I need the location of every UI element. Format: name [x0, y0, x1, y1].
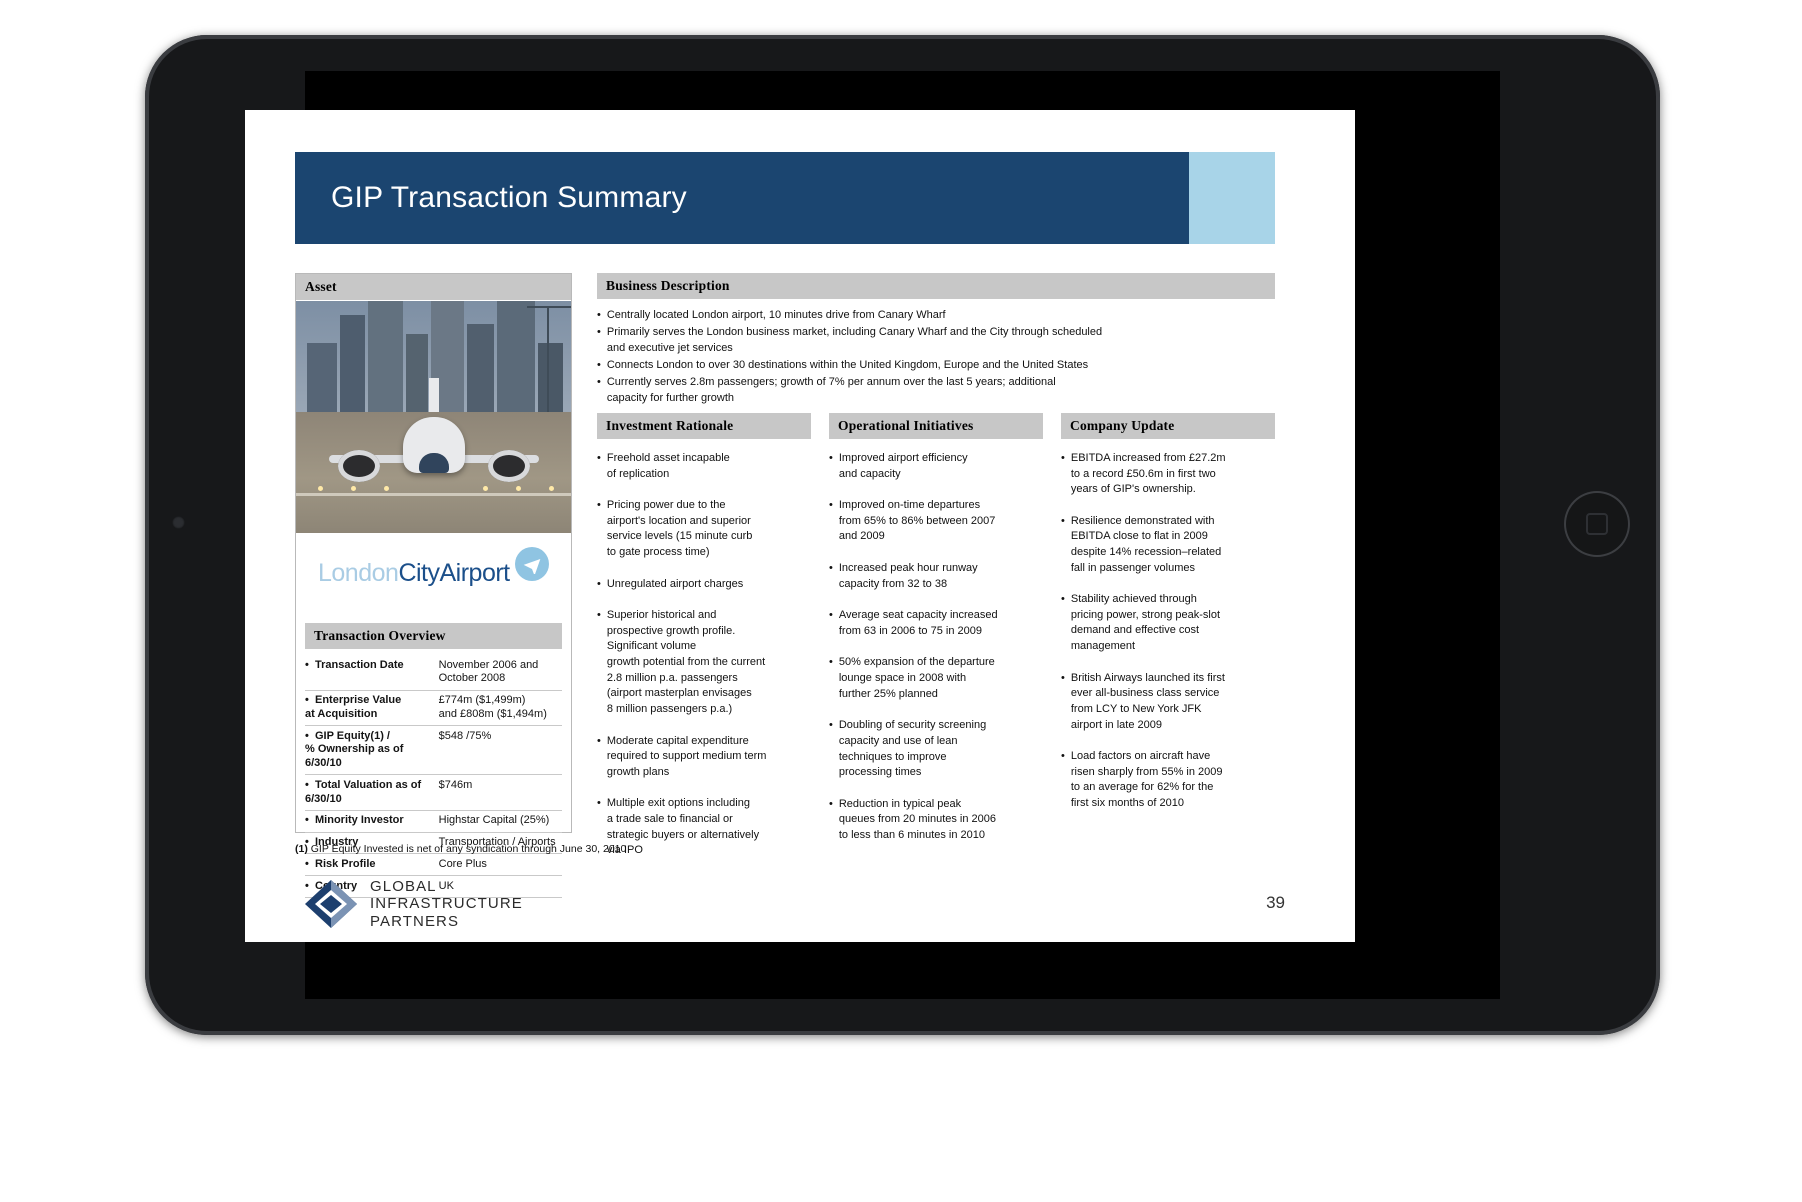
company-update-header: Company Update [1061, 413, 1275, 439]
company-update-column: Company Update •EBITDA increased from £2… [1061, 413, 1275, 875]
table-row: •Minority InvestorHighstar Capital (25%) [305, 810, 562, 832]
table-row: •Total Valuation as of 6/30/10$746m [305, 775, 562, 811]
bullet-icon: • [829, 797, 833, 844]
airplane-icon [515, 547, 549, 581]
photo-building [467, 324, 495, 412]
gip-line-3: PARTNERS [370, 913, 523, 930]
photo-plane-engine [338, 450, 380, 482]
list-item: •Doubling of security screening capacity… [829, 718, 1043, 780]
table-row: •GIP Equity(1) / % Ownership as of 6/30/… [305, 726, 562, 775]
list-item-text: Connects London to over 30 destinations … [607, 358, 1088, 374]
list-item-text: Unregulated airport charges [607, 577, 743, 593]
list-item-text: EBITDA increased from £27.2m to a record… [1071, 451, 1226, 498]
list-item-text: Resilience demonstrated with EBITDA clos… [1071, 514, 1221, 576]
gip-line-1: GLOBAL [370, 878, 523, 895]
lca-wordmark-cityairport: CityAirport [398, 559, 509, 587]
table-row: •Transaction DateNovember 2006 and Octob… [305, 655, 562, 690]
list-item: •Pricing power due to the airport's loca… [597, 498, 811, 560]
row-value: November 2006 and October 2008 [439, 655, 562, 690]
list-item: •British Airways launched its first ever… [1061, 671, 1275, 733]
list-item: •Primarily serves the London business ma… [597, 325, 1275, 357]
row-label: •Total Valuation as of 6/30/10 [305, 775, 439, 811]
list-item-text: Centrally located London airport, 10 min… [607, 308, 946, 324]
operational-initiatives-header: Operational Initiatives [829, 413, 1043, 439]
business-description-list: •Centrally located London airport, 10 mi… [597, 308, 1275, 407]
bullet-icon: • [597, 734, 601, 781]
list-item-text: Increased peak hour runway capacity from… [839, 561, 978, 592]
list-item-text: Load factors on aircraft have risen shar… [1071, 749, 1223, 811]
table-row: •Enterprise Value at Acquisition£774m ($… [305, 690, 562, 726]
list-item-text: Pricing power due to the airport's locat… [607, 498, 753, 560]
bullet-icon: • [305, 659, 315, 673]
row-value: Highstar Capital (25%) [439, 810, 562, 832]
bullet-icon: • [829, 498, 833, 545]
business-description-section: Business Description •Centrally located … [597, 273, 1275, 408]
photo-building [406, 334, 428, 413]
list-item-text: Superior historical and prospective grow… [607, 608, 765, 717]
row-label: •Transaction Date [305, 655, 439, 690]
transaction-overview-header: Transaction Overview [305, 623, 562, 649]
home-button[interactable] [1564, 491, 1630, 557]
photo-building [538, 343, 563, 413]
row-value: Core Plus [439, 854, 562, 876]
photo-plane-tail [429, 378, 439, 412]
photo-building [497, 301, 536, 412]
list-item-text: Improved on-time departures from 65% to … [839, 498, 996, 545]
london-city-airport-logo: LondonCityAirport [296, 533, 571, 623]
list-item-text: Freehold asset incapable of replication [607, 451, 730, 482]
operational-initiatives-column: Operational Initiatives •Improved airpor… [829, 413, 1043, 875]
photo-plane-engine [488, 450, 530, 482]
list-item-text: Reduction in typical peak queues from 20… [839, 797, 996, 844]
asset-panel: Asset [295, 273, 572, 833]
list-item-text: British Airways launched its first ever … [1071, 671, 1225, 733]
bullet-icon: • [597, 325, 601, 357]
footnote: (1) GIP Equity Invested is net of any sy… [295, 843, 626, 855]
bullet-icon: • [1061, 749, 1065, 811]
investment-rationale-column: Investment Rationale •Freehold asset inc… [597, 413, 811, 875]
investment-rationale-header: Investment Rationale [597, 413, 811, 439]
bullet-icon: • [829, 561, 833, 592]
gip-wordmark: GLOBAL INFRASTRUCTURE PARTNERS [370, 878, 523, 929]
photo-building [368, 301, 404, 412]
page-number: 39 [1266, 893, 1285, 913]
list-item: •Moderate capital expenditure required t… [597, 734, 811, 781]
transaction-overview-section: Transaction Overview •Transaction DateNo… [296, 623, 571, 908]
list-item-text: Stability achieved through pricing power… [1071, 592, 1220, 654]
list-item: •Superior historical and prospective gro… [597, 608, 811, 717]
bullet-icon: • [597, 451, 601, 482]
bullet-icon: • [597, 577, 601, 593]
page-title: GIP Transaction Summary [331, 181, 687, 215]
row-label: •Minority Investor [305, 810, 439, 832]
photo-building [307, 343, 337, 413]
list-item: •EBITDA increased from £27.2m to a recor… [1061, 451, 1275, 498]
row-value: $548 /75% [439, 726, 562, 775]
list-item: •Centrally located London airport, 10 mi… [597, 308, 1275, 324]
detail-columns: Investment Rationale •Freehold asset inc… [597, 413, 1275, 875]
photo-runway-marking [296, 493, 571, 496]
footnote-marker: (1) [295, 843, 308, 855]
list-item: •Multiple exit options including a trade… [597, 796, 811, 858]
presentation-slide: GIP Transaction Summary Asset [245, 110, 1355, 942]
list-item-text: Improved airport efficiency and capacity [839, 451, 968, 482]
table-row: •Risk ProfileCore Plus [305, 854, 562, 876]
investment-rationale-list: •Freehold asset incapable of replication… [597, 451, 811, 859]
list-item: •Improved airport efficiency and capacit… [829, 451, 1043, 482]
bullet-icon: • [597, 498, 601, 560]
asset-section-header: Asset [296, 274, 571, 301]
slide-title-banner: GIP Transaction Summary [295, 152, 1275, 244]
business-description-header: Business Description [597, 273, 1275, 299]
row-label: •Enterprise Value at Acquisition [305, 690, 439, 726]
list-item-text: Currently serves 2.8m passengers; growth… [607, 375, 1056, 407]
gip-diamond-icon [303, 878, 359, 930]
footnote-text: GIP Equity Invested is net of any syndic… [308, 843, 627, 855]
bullet-icon: • [1061, 671, 1065, 733]
list-item-text: Average seat capacity increased from 63 … [839, 608, 998, 639]
row-value: $746m [439, 775, 562, 811]
bullet-icon: • [597, 375, 601, 407]
title-accent-block [1189, 152, 1275, 244]
bullet-icon: • [305, 730, 315, 744]
front-camera-icon [172, 516, 185, 529]
photo-building [340, 315, 365, 412]
bullet-icon: • [597, 358, 601, 374]
bullet-icon: • [829, 451, 833, 482]
list-item: •Currently serves 2.8m passengers; growt… [597, 375, 1275, 407]
bullet-icon: • [305, 694, 315, 708]
company-update-list: •EBITDA increased from £27.2m to a recor… [1061, 451, 1275, 812]
list-item: •Connects London to over 30 destinations… [597, 358, 1275, 374]
list-item: •Stability achieved through pricing powe… [1061, 592, 1275, 654]
home-button-square-icon [1586, 513, 1608, 535]
bullet-icon: • [305, 814, 315, 828]
list-item: •Increased peak hour runway capacity fro… [829, 561, 1043, 592]
bullet-icon: • [1061, 592, 1065, 654]
title-bar: GIP Transaction Summary [295, 152, 1189, 244]
photo-plane-cockpit [419, 453, 449, 473]
bullet-icon: • [597, 608, 601, 717]
bullet-icon: • [829, 608, 833, 639]
list-item: •50% expansion of the departure lounge s… [829, 655, 1043, 702]
bullet-icon: • [1061, 514, 1065, 576]
list-item-text: Doubling of security screening capacity … [839, 718, 986, 780]
lca-wordmark-london: London [318, 559, 398, 587]
transaction-overview-table: •Transaction DateNovember 2006 and Octob… [305, 655, 562, 898]
bullet-icon: • [305, 779, 315, 793]
photo-crane [547, 306, 549, 413]
list-item: •Average seat capacity increased from 63… [829, 608, 1043, 639]
list-item: •Reduction in typical peak queues from 2… [829, 797, 1043, 844]
list-item: •Freehold asset incapable of replication [597, 451, 811, 482]
list-item: •Improved on-time departures from 65% to… [829, 498, 1043, 545]
list-item-text: Multiple exit options including a trade … [607, 796, 759, 858]
list-item: •Unregulated airport charges [597, 577, 811, 593]
bullet-icon: • [829, 718, 833, 780]
row-value: £774m ($1,499m) and £808m ($1,494m) [439, 690, 562, 726]
bullet-icon: • [829, 655, 833, 702]
gip-line-2: INFRASTRUCTURE [370, 895, 523, 912]
row-label: •GIP Equity(1) / % Ownership as of 6/30/… [305, 726, 439, 775]
list-item: •Resilience demonstrated with EBITDA clo… [1061, 514, 1275, 576]
lca-wordmark: LondonCityAirport [318, 559, 510, 588]
list-item-text: Moderate capital expenditure required to… [607, 734, 767, 781]
airport-photo [296, 301, 571, 533]
list-item-text: 50% expansion of the departure lounge sp… [839, 655, 995, 702]
bullet-icon: • [1061, 451, 1065, 498]
gip-logo: GLOBAL INFRASTRUCTURE PARTNERS [303, 878, 523, 930]
list-item-text: Primarily serves the London business mar… [607, 325, 1102, 357]
operational-initiatives-list: •Improved airport efficiency and capacit… [829, 451, 1043, 844]
bullet-icon: • [597, 308, 601, 324]
list-item: •Load factors on aircraft have risen sha… [1061, 749, 1275, 811]
bullet-icon: • [597, 796, 601, 858]
bullet-icon: • [305, 858, 315, 872]
row-label: •Risk Profile [305, 854, 439, 876]
